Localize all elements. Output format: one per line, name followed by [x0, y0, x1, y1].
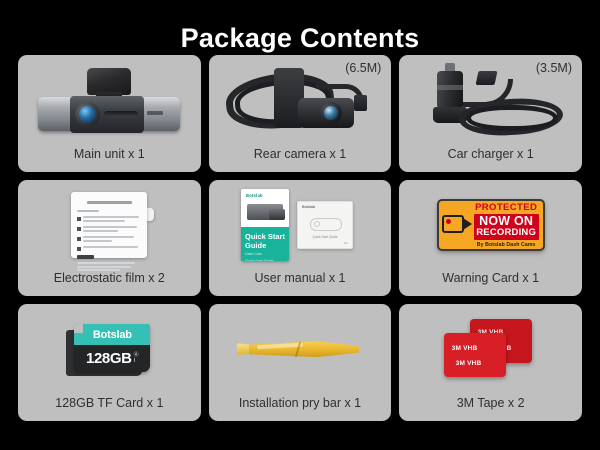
film-bullet-icon [77, 247, 81, 251]
package-item-electrostatic-film[interactable]: Electrostatic film x 2 [18, 180, 201, 297]
package-item-3m-tape[interactable]: 3M VHB 3M VHB 3M VHB 3M VHB 3M Tape x 2 [399, 304, 582, 421]
package-items-grid: Main unit x 1 (6.5M) Rear camera x 1 [18, 55, 582, 421]
film-heading-line [87, 201, 132, 204]
warning-protected-text: PROTECTED [474, 203, 539, 213]
booklet-cover-photo: Botslab [241, 189, 289, 227]
car-charger-art [399, 55, 582, 147]
film-bullet-icon [77, 217, 81, 221]
pry-bar-handle-icon [249, 341, 359, 357]
main-unit-art [18, 55, 201, 147]
rear-camera-plug-icon [354, 95, 367, 111]
camera-lens-shape-icon [463, 218, 472, 230]
item-label: Installation pry bar x 1 [209, 396, 392, 421]
booklet-title-line2: Guide [245, 242, 285, 251]
camera-brand-mark-icon [147, 111, 163, 115]
tf-card-brand-band: Botslab [74, 324, 150, 345]
film-bullet-row [77, 226, 141, 233]
film-text-lines [83, 226, 141, 233]
item-label: Warning Card x 1 [399, 271, 582, 296]
item-label: Electrostatic film x 2 [18, 271, 201, 296]
quick-start-guide-booklet-icon: Botslab Quick Start Guide Dash Cam Quick… [241, 189, 289, 261]
tf-card-class-marks: Ⓐ I [134, 353, 139, 364]
film-sheet-icon [71, 192, 147, 258]
warning-now-on-text: NOW ON [474, 215, 539, 228]
electrostatic-film-art [18, 180, 201, 272]
booklet-subtitle-line2: Quick Start Guide [241, 257, 289, 261]
warning-attribution-text: By Botslab Dash Cams [474, 242, 539, 248]
item-label: Car charger x 1 [399, 147, 582, 172]
rear-camera-art [209, 55, 392, 147]
tape-square-front: 3M VHB 3M VHB [444, 333, 506, 377]
charger-cable-coil-inner-icon [466, 105, 558, 131]
film-bullet-row [77, 246, 141, 251]
page-title: Package Contents [18, 0, 582, 55]
car-charger-with-cable-icon [411, 61, 571, 141]
tape-front-text-line1: 3M VHB [452, 345, 478, 352]
film-bullet-icon [77, 237, 81, 241]
package-item-tf-card[interactable]: Botslab 128GB Ⓐ I 128GB TF Card x 1 [18, 304, 201, 421]
film-text-lines [83, 216, 141, 223]
package-item-warning-card[interactable]: PROTECTED NOW ON RECORDING By Botslab Da… [399, 180, 582, 297]
package-item-car-charger[interactable]: (3.5M) Car charger x 1 [399, 55, 582, 172]
installation-pry-bar-icon [235, 333, 365, 367]
rear-camera-lens-icon [324, 106, 338, 120]
booklet-device-photo-secondary-icon [269, 209, 285, 220]
film-subheading-line [77, 210, 99, 212]
package-item-pry-bar[interactable]: Installation pry bar x 1 [209, 304, 392, 421]
video-camera-icon [442, 213, 472, 237]
package-item-user-manual[interactable]: Botslab Quick Start Guide Dash Cam Quick… [209, 180, 392, 297]
film-text-lines [83, 236, 141, 243]
user-manual-booklet-icon: Botslab Quick Start Guide Dash Cam Quick… [235, 187, 365, 263]
item-label: 128GB TF Card x 1 [18, 396, 201, 421]
insert-card-caption: Quick Start Guide [312, 235, 337, 239]
tape-front-text-line2: 3M VHB [456, 360, 482, 367]
item-label: Rear camera x 1 [209, 147, 392, 172]
package-item-main-unit[interactable]: Main unit x 1 [18, 55, 201, 172]
charger-body-icon [437, 71, 463, 109]
item-label: Main unit x 1 [18, 147, 201, 172]
booklet-brand-label: Botslab [246, 193, 263, 198]
tf-card-capacity-band: 128GB Ⓐ I [74, 345, 150, 372]
insert-card-brand-label: Botslab [302, 205, 315, 209]
3m-vhb-tape-squares-icon: 3M VHB 3M VHB 3M VHB 3M VHB [436, 319, 546, 381]
booklet-title: Quick Start Guide [241, 227, 289, 250]
package-item-rear-camera[interactable]: (6.5M) Rear camera x 1 [209, 55, 392, 172]
warning-card-text: PROTECTED NOW ON RECORDING By Botslab Da… [474, 203, 539, 249]
film-section-marker [77, 255, 94, 259]
warning-red-banner: NOW ON RECORDING [474, 214, 539, 241]
manual-insert-card-icon: Botslab Quick Start Guide EN [297, 201, 353, 249]
booklet-subtitle-line1: Dash Cam [241, 250, 289, 257]
electrostatic-film-sheet-icon [71, 192, 147, 258]
warning-recording-text: RECORDING [474, 228, 539, 239]
pry-bar-art [209, 304, 392, 396]
tf-card-capacity-label: 128GB [86, 350, 132, 367]
film-bullet-row [77, 216, 141, 223]
charger-contact-band-icon [437, 85, 463, 90]
tf-card-brand-label: Botslab [93, 329, 132, 341]
insert-card-page-mark: EN [344, 241, 348, 245]
warning-card-sticker-icon: PROTECTED NOW ON RECORDING By Botslab Da… [437, 199, 545, 251]
dash-cam-main-unit-icon [34, 66, 184, 136]
tape-art: 3M VHB 3M VHB 3M VHB 3M VHB [399, 304, 582, 396]
tf-card-class-mark-2: I [134, 359, 139, 364]
tf-card-art: Botslab 128GB Ⓐ I [18, 304, 201, 396]
item-label: 3M Tape x 2 [399, 396, 582, 421]
camera-body-shape-icon [442, 215, 464, 233]
camera-vent-slot-icon [104, 111, 138, 117]
film-bullet-icon [77, 227, 81, 231]
package-contents-page: Package Contents Main unit x 1 (6.5M) [0, 0, 600, 450]
tf-card-notch-icon [74, 324, 83, 333]
user-manual-art: Botslab Quick Start Guide Dash Cam Quick… [209, 180, 392, 272]
tf-card-face: Botslab 128GB Ⓐ I [74, 324, 150, 372]
item-label: User manual x 1 [209, 271, 392, 296]
film-bullet-row [77, 236, 141, 243]
microsd-tf-card-icon: Botslab 128GB Ⓐ I [66, 322, 152, 378]
warning-card-art: PROTECTED NOW ON RECORDING By Botslab Da… [399, 180, 582, 272]
camera-mount-icon [87, 68, 131, 95]
rear-camera-with-cable-icon [220, 62, 380, 140]
film-text-lines [83, 246, 141, 250]
